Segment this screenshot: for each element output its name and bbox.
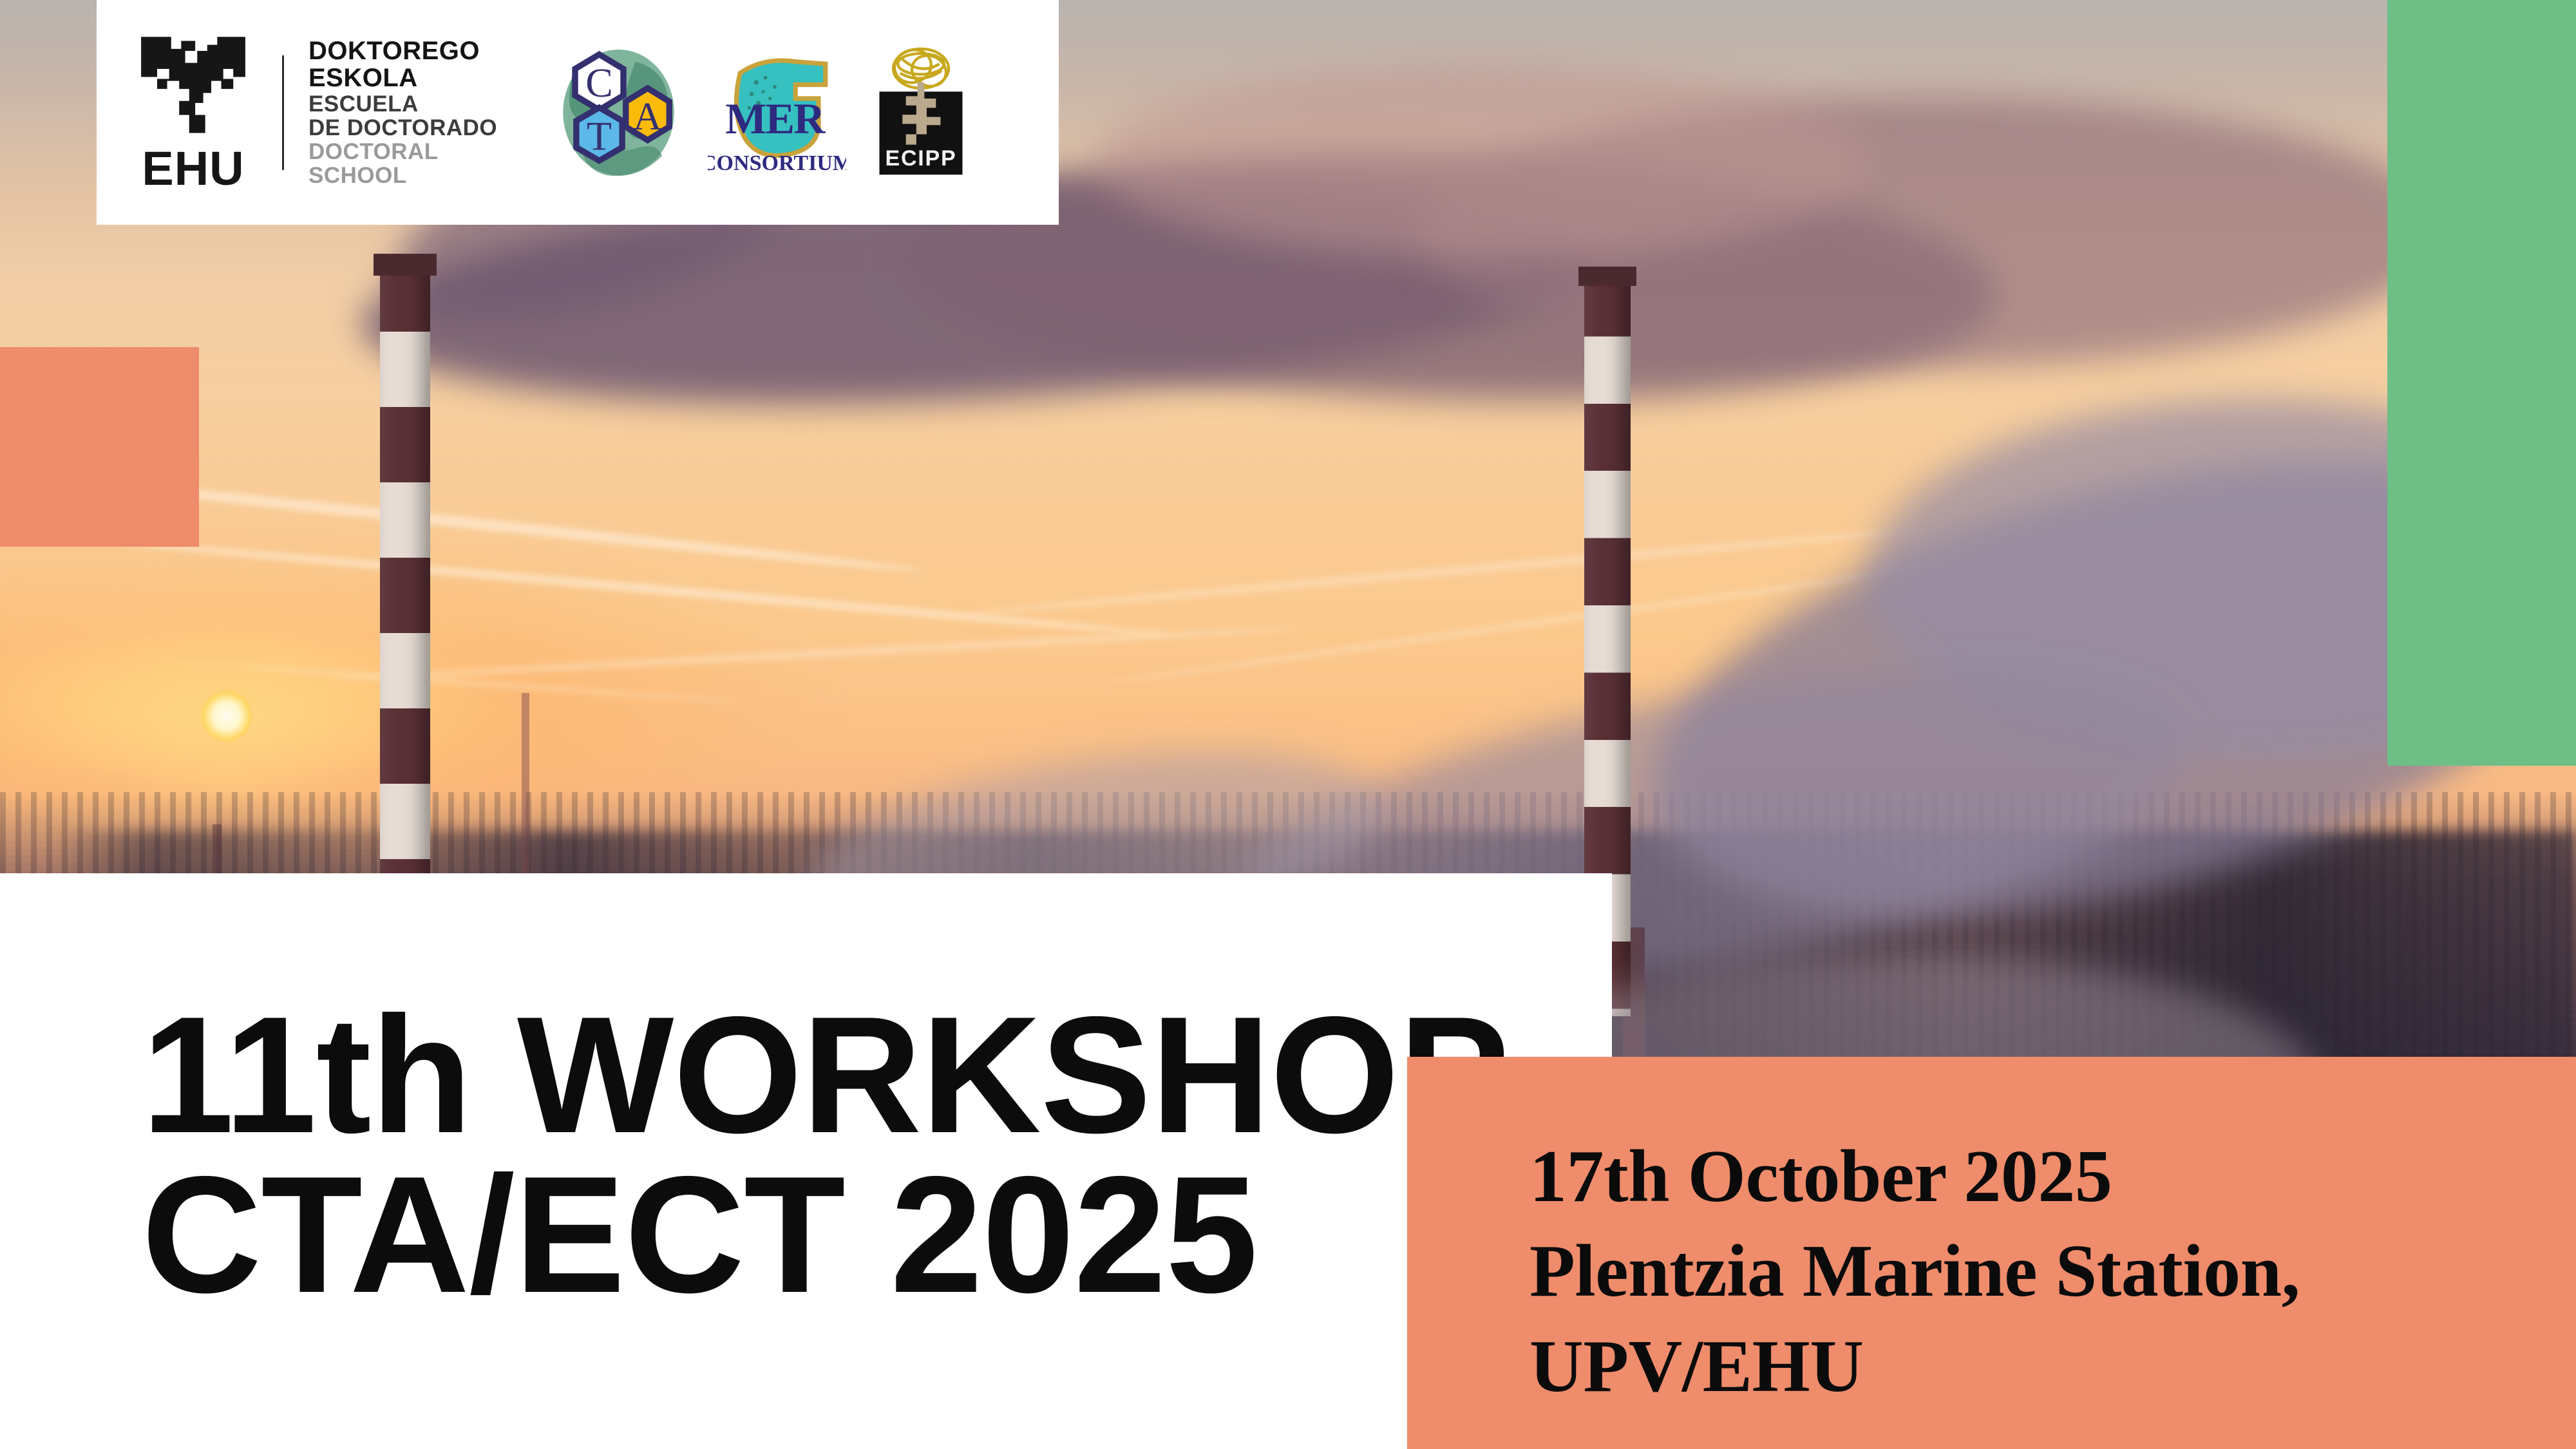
event-date: 17th October 2025	[1529, 1130, 2495, 1224]
ecipp-logo-icon: ECIPP	[863, 43, 979, 182]
event-venue-line-1: Plentzia Marine Station,	[1529, 1224, 2495, 1319]
ehu-wordmark: EHU	[142, 145, 244, 193]
ehu-line-school: SCHOOL	[308, 164, 497, 187]
ehu-line-escuela: ESCUELA	[308, 92, 497, 116]
sun-icon	[201, 690, 252, 742]
logo-bar-panel: EHU DOKTOREGO ESKOLA ESCUELA DE DOCTORAD…	[97, 0, 1059, 225]
title-line-1: 11th WORKSHOP	[142, 995, 1558, 1155]
svg-text:CONSORTIUM: CONSORTIUM	[708, 151, 846, 175]
smoke-plume	[1095, 64, 1868, 258]
svg-text:T: T	[587, 113, 612, 159]
ehu-logo: EHU	[129, 33, 258, 193]
svg-text:MER: MER	[725, 94, 826, 143]
ehu-school-names: DOKTOREGO ESKOLA ESCUELA DE DOCTORADO DO…	[308, 37, 497, 187]
ehu-line-doctoral: DOCTORAL	[308, 140, 497, 164]
distant-tower	[522, 693, 529, 873]
ehu-line-de-doctorado: DE DOCTORADO	[308, 116, 497, 140]
page-title: 11th WORKSHOP CTA/ECT 2025	[142, 995, 1558, 1314]
ehu-lauburu-mark-icon	[133, 33, 254, 141]
coral-accent-block	[0, 347, 199, 547]
svg-text:ECIPP: ECIPP	[885, 146, 957, 171]
event-venue-line-2: UPV/EHU	[1529, 1320, 2495, 1414]
title-line-2: CTA/ECT 2025	[142, 1155, 1558, 1314]
logo-ehu-doctoral-school: EHU DOKTOREGO ESKOLA ESCUELA DE DOCTORAD…	[129, 33, 497, 193]
poster-canvas: EHU DOKTOREGO ESKOLA ESCUELA DE DOCTORAD…	[0, 0, 2576, 1449]
cta-logo-icon: C A T	[546, 40, 691, 185]
svg-text:C: C	[585, 60, 613, 106]
date-venue-text: 17th October 2025 Plentzia Marine Statio…	[1529, 1130, 2495, 1414]
mer-consortium-logo-icon: MER CONSORTIUM	[708, 43, 846, 182]
ehu-line-doktorego: DOKTOREGO	[308, 37, 497, 64]
logo-divider	[282, 55, 284, 170]
ehu-line-eskola: ESKOLA	[308, 64, 497, 91]
green-accent-block	[2387, 0, 2576, 766]
svg-text:A: A	[633, 95, 662, 138]
